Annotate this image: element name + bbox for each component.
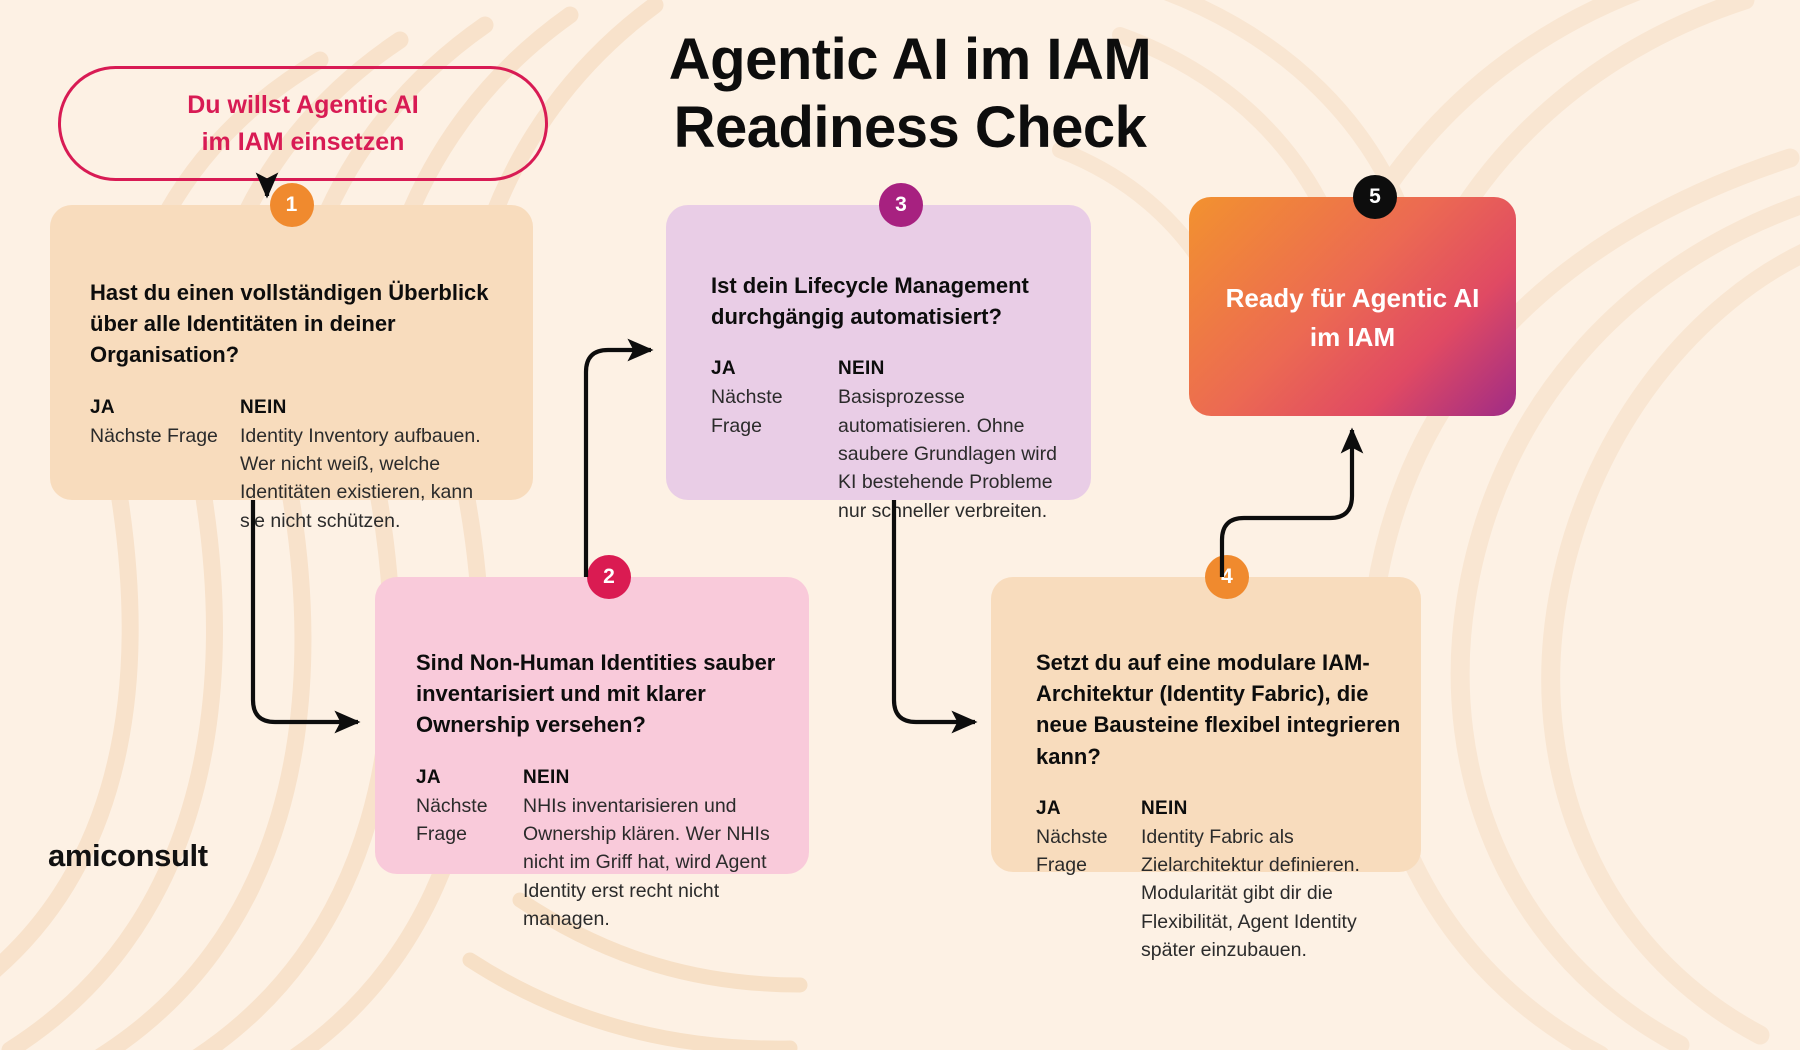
question-card-2: 2 Sind Non-Human Identities sauber inven…: [375, 577, 809, 874]
question-text-2: Sind Non-Human Identities sauber inventa…: [416, 647, 783, 741]
start-line-2: im IAM einsetzen: [202, 128, 405, 156]
answer-yes-label-4: JA: [1036, 798, 1141, 820]
brand-logo: amiconsult: [48, 838, 208, 874]
result-text: Ready für Agentic AI im IAM: [1226, 257, 1480, 357]
step-badge-3: 3: [879, 183, 923, 227]
answers-4: JA Nächste Frage NEIN Identity Fabric al…: [1036, 798, 1401, 964]
answers-2: JA Nächste Frage NEIN NHIs inventarisier…: [416, 767, 783, 933]
start-node-text: Du willst Agentic AI im IAM einsetzen: [187, 87, 419, 160]
answer-no-4: NEIN Identity Fabric als Zielarchitektur…: [1141, 798, 1401, 964]
question-card-3: 3 Ist dein Lifecycle Management durchgän…: [666, 205, 1091, 500]
answer-no-text-4: Identity Fabric als Zielarchitektur defi…: [1141, 823, 1401, 964]
answer-no-text-3: Basisprozesse automatisieren. Ohne saube…: [838, 383, 1067, 524]
step-badge-5: 5: [1353, 175, 1397, 219]
question-text-1: Hast du einen vollständigen Überblick üb…: [90, 277, 503, 371]
step-badge-1: 1: [270, 183, 314, 227]
answers-1: JA Nächste Frage NEIN Identity Inventory…: [90, 397, 503, 535]
step-badge-4: 4: [1205, 555, 1249, 599]
question-text-4: Setzt du auf eine modulare IAM-Architekt…: [1036, 647, 1401, 772]
answer-yes-2: JA Nächste Frage: [416, 767, 523, 933]
step-badge-2: 2: [587, 555, 631, 599]
answer-no-label-1: NEIN: [240, 397, 503, 419]
answer-no-label-2: NEIN: [523, 767, 783, 789]
answer-no-label-3: NEIN: [838, 358, 1067, 380]
answer-yes-label-3: JA: [711, 358, 838, 380]
answer-yes-3: JA Nächste Frage: [711, 358, 838, 524]
answer-no-text-1: Identity Inventory aufbauen. Wer nicht w…: [240, 422, 503, 535]
answer-no-text-2: NHIs inventarisieren und Ownership kläre…: [523, 792, 783, 933]
title-line-2: Readiness Check: [560, 94, 1260, 162]
answer-yes-1: JA Nächste Frage: [90, 397, 240, 535]
question-card-1: 1 Hast du einen vollständigen Überblick …: [50, 205, 533, 500]
answers-3: JA Nächste Frage NEIN Basisprozesse auto…: [711, 358, 1067, 524]
answer-yes-4: JA Nächste Frage: [1036, 798, 1141, 964]
answer-no-2: NEIN NHIs inventarisieren und Ownership …: [523, 767, 783, 933]
answer-yes-label-2: JA: [416, 767, 523, 789]
answer-yes-label-1: JA: [90, 397, 240, 419]
result-line-2: im IAM: [1310, 322, 1395, 352]
answer-no-1: NEIN Identity Inventory aufbauen. Wer ni…: [240, 397, 503, 535]
start-node: Du willst Agentic AI im IAM einsetzen: [58, 66, 548, 181]
result-line-1: Ready für Agentic AI: [1226, 283, 1480, 313]
start-line-1: Du willst Agentic AI: [187, 91, 419, 119]
answer-no-label-4: NEIN: [1141, 798, 1401, 820]
question-card-4: 4 Setzt du auf eine modulare IAM-Archite…: [991, 577, 1421, 872]
answer-yes-text-4: Nächste Frage: [1036, 823, 1141, 880]
page-title: Agentic AI im IAM Readiness Check: [560, 26, 1260, 162]
result-card: 5 Ready für Agentic AI im IAM: [1189, 197, 1516, 416]
question-text-3: Ist dein Lifecycle Management durchgängi…: [711, 270, 1067, 332]
answer-yes-text-1: Nächste Frage: [90, 422, 240, 450]
title-line-1: Agentic AI im IAM: [669, 27, 1151, 92]
answer-yes-text-3: Nächste Frage: [711, 383, 838, 440]
answer-no-3: NEIN Basisprozesse automatisieren. Ohne …: [838, 358, 1067, 524]
answer-yes-text-2: Nächste Frage: [416, 792, 523, 849]
